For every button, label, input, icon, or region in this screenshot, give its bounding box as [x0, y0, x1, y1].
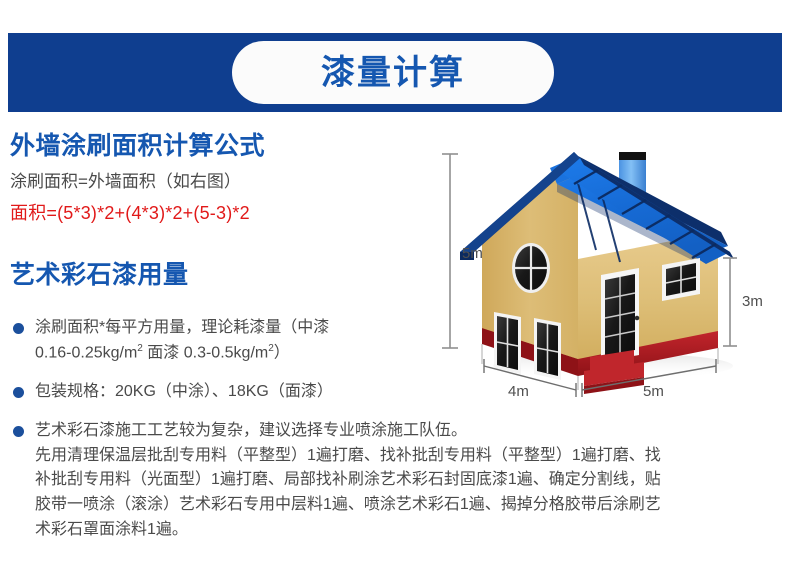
bullet-line: 先用清理保温层批刮专用料（平整型）1遍打磨、找补批刮专用料（平整型）1遍打磨、找	[35, 444, 790, 469]
formula-heading: 外墙涂刷面积计算公式	[10, 133, 460, 161]
dimension-label-front-width: 5m	[643, 383, 664, 400]
gable-round-window	[512, 243, 550, 293]
dimension-label-height: 5m	[462, 245, 483, 262]
bullet-line: 术彩石罩面涂料1遍。	[35, 518, 790, 543]
closing-paren: ）	[274, 344, 290, 361]
bullet-line: 艺术彩石漆施工工艺较为复杂，建议选择专业喷涂施工队伍。	[35, 419, 790, 444]
formula-section: 外墙涂刷面积计算公式 涂刷面积=外墙面积（如右图） 面积=(5*3)*2+(4*…	[10, 133, 460, 226]
usage-heading: 艺术彩石漆用量	[10, 262, 189, 290]
formula-expression: 面积=(5*3)*2+(4*3)*2+(5-3)*2	[10, 201, 460, 225]
paint-quantity-infographic: 漆量计算 外墙涂刷面积计算公式 涂刷面积=外墙面积（如右图） 面积=(5*3)*…	[0, 0, 790, 575]
formula-subtitle: 涂刷面积=外墙面积（如右图）	[10, 171, 460, 194]
bullet-dot-icon	[13, 387, 24, 398]
dimension-total-height	[442, 154, 458, 348]
bullet-dot-icon	[13, 323, 24, 334]
dosage-top-label: 面漆 0.3-0.5kg/m	[143, 344, 268, 361]
dimension-wall-height	[723, 258, 737, 346]
bullet-dot-icon	[13, 426, 24, 437]
house-illustration: 5m 3m 4m	[438, 128, 790, 413]
bullet-line: 补批刮专用料（光面型）1遍打磨、局部找补刷涂艺术彩石封固底漆1遍、确定分割线，贴	[35, 468, 790, 493]
page-title: 漆量计算	[321, 56, 465, 90]
dosage-mid-value: 0.16-0.25kg/m	[35, 344, 137, 361]
gable-window-right	[534, 318, 561, 380]
bullet-line: 胶带一喷涂（滚涂）艺术彩石专用中层料1遍、喷涂艺术彩石1遍、揭掉分格胶带后涂刷艺	[35, 493, 790, 518]
front-door	[601, 268, 639, 362]
header-title-pill: 漆量计算	[232, 41, 554, 104]
chimney-cap	[619, 152, 646, 160]
list-item: 艺术彩石漆施工工艺较为复杂，建议选择专业喷涂施工队伍。 先用清理保温层批刮专用料…	[10, 419, 790, 543]
dimension-label-wall-height: 3m	[742, 293, 763, 310]
front-window	[662, 258, 700, 301]
gable-window-left	[494, 312, 521, 374]
door-knob-icon	[635, 316, 640, 321]
dimension-label-side-width: 4m	[508, 383, 529, 400]
